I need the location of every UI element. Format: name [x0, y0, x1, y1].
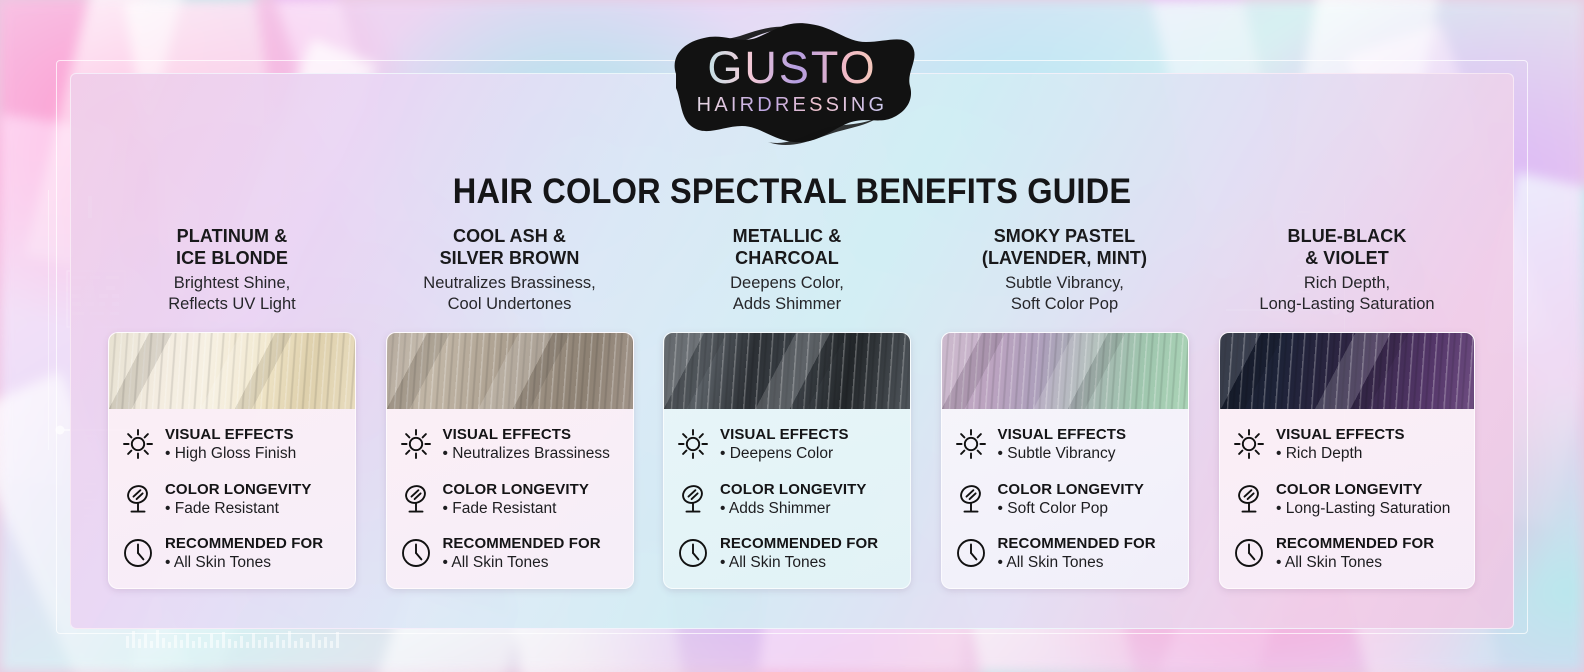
feature-visual-effects: VISUAL EFFECTS • High Gloss Finish [121, 425, 343, 463]
content-panel: GUSTO HAIRDRESSING HAIR COLOR SPECTRAL B… [70, 73, 1514, 629]
feature-visual-effects: VISUAL EFFECTS • Deepens Color [676, 425, 898, 463]
column-title-line1: METALLIC & [733, 226, 842, 248]
hand-mirror-icon [676, 482, 710, 516]
feature-value: • Deepens Color [720, 445, 833, 462]
column-subtitle-line1: Subtle Vibrancy, [1005, 273, 1124, 294]
column-title-line2: CHARCOAL [733, 248, 842, 270]
feature-label: VISUAL EFFECTS [443, 426, 572, 443]
feature-value: • Rich Depth [1276, 445, 1362, 462]
feature-value: • Neutralizes Brassiness [443, 445, 610, 462]
benefit-column-metallic-charcoal: METALLIC & CHARCOAL Deepens Color, Adds … [650, 226, 924, 589]
benefit-card[interactable]: VISUAL EFFECTS • High Gloss Finish [108, 332, 356, 589]
feature-text: VISUAL EFFECTS • Subtle Vibrancy [998, 425, 1176, 463]
hair-chevron-highlight [1220, 333, 1474, 409]
feature-label: VISUAL EFFECTS [165, 426, 294, 443]
feature-value: • All Skin Tones [1276, 554, 1382, 571]
column-title: PLATINUM & ICE BLONDE [176, 226, 288, 270]
feature-label: COLOR LONGEVITY [998, 481, 1145, 498]
clock-icon [399, 536, 433, 570]
feature-value: • Subtle Vibrancy [998, 445, 1116, 462]
feature-label: RECOMMENDED FOR [1276, 535, 1434, 552]
feature-color-longevity: COLOR LONGEVITY • Adds Shimmer [676, 480, 898, 518]
feature-label: VISUAL EFFECTS [720, 426, 849, 443]
feature-recommended-for: RECOMMENDED FOR • All Skin Tones [121, 534, 343, 572]
benefit-column-blue-black-violet: BLUE-BLACK & VIOLET Rich Depth, Long-Las… [1205, 226, 1489, 589]
sun-icon [121, 427, 155, 461]
column-title: METALLIC & CHARCOAL [733, 226, 842, 270]
card-body: VISUAL EFFECTS • High Gloss Finish [109, 409, 355, 588]
feature-value: • Fade Resistant [443, 500, 557, 517]
feature-value: • All Skin Tones [443, 554, 549, 571]
card-body: VISUAL EFFECTS • Rich Depth [1220, 409, 1474, 588]
page-title: HAIR COLOR SPECTRAL BENEFITS GUIDE [121, 172, 1462, 212]
card-body: VISUAL EFFECTS • Neutralizes Brassiness [387, 409, 633, 588]
column-subtitle-line2: Long-Lasting Saturation [1259, 294, 1434, 315]
feature-value: • All Skin Tones [720, 554, 826, 571]
feature-recommended-for: RECOMMENDED FOR • All Skin Tones [676, 534, 898, 572]
feature-value: • High Gloss Finish [165, 445, 296, 462]
feature-text: COLOR LONGEVITY • Fade Resistant [165, 480, 343, 518]
clock-icon [676, 536, 710, 570]
feature-label: COLOR LONGEVITY [443, 481, 590, 498]
clock-icon [121, 536, 155, 570]
column-title-line1: SMOKY PASTEL [982, 226, 1147, 248]
hair-swatch-image [387, 333, 633, 409]
feature-color-longevity: COLOR LONGEVITY • Fade Resistant [121, 480, 343, 518]
feature-value: • Soft Color Pop [998, 500, 1109, 517]
benefit-column-platinum-ice-blonde: PLATINUM & ICE BLONDE Brightest Shine, R… [95, 226, 369, 589]
clock-icon [1232, 536, 1266, 570]
column-title-line1: BLUE-BLACK [1288, 226, 1407, 248]
feature-text: VISUAL EFFECTS • Deepens Color [720, 425, 898, 463]
column-subtitle: Deepens Color, Adds Shimmer [730, 273, 844, 314]
column-subtitle-line1: Neutralizes Brassiness, [423, 273, 595, 294]
feature-label: RECOMMENDED FOR [165, 535, 323, 552]
feature-color-longevity: COLOR LONGEVITY • Soft Color Pop [954, 480, 1176, 518]
hair-swatch-image [109, 333, 355, 409]
column-subtitle: Neutralizes Brassiness, Cool Undertones [423, 273, 595, 314]
feature-text: RECOMMENDED FOR • All Skin Tones [998, 534, 1176, 572]
feature-text: COLOR LONGEVITY • Fade Resistant [443, 480, 621, 518]
feature-text: VISUAL EFFECTS • High Gloss Finish [165, 425, 343, 463]
benefits-columns: PLATINUM & ICE BLONDE Brightest Shine, R… [95, 226, 1489, 589]
column-title-line2: ICE BLONDE [176, 248, 288, 270]
feature-value: • Fade Resistant [165, 500, 279, 517]
feature-recommended-for: RECOMMENDED FOR • All Skin Tones [399, 534, 621, 572]
benefit-card[interactable]: VISUAL EFFECTS • Deepens Color [663, 332, 911, 589]
hair-swatch-image [664, 333, 910, 409]
feature-label: VISUAL EFFECTS [998, 426, 1127, 443]
benefit-card[interactable]: VISUAL EFFECTS • Subtle Vibrancy [941, 332, 1189, 589]
card-body: VISUAL EFFECTS • Deepens Color [664, 409, 910, 588]
hair-chevron-highlight [942, 333, 1188, 409]
feature-value: • Adds Shimmer [720, 500, 831, 517]
column-subtitle: Rich Depth, Long-Lasting Saturation [1259, 273, 1434, 314]
column-subtitle-line2: Cool Undertones [423, 294, 595, 315]
column-subtitle-line2: Adds Shimmer [730, 294, 844, 315]
feature-recommended-for: RECOMMENDED FOR • All Skin Tones [1232, 534, 1462, 572]
column-title-line2: & VIOLET [1288, 248, 1407, 270]
feature-visual-effects: VISUAL EFFECTS • Subtle Vibrancy [954, 425, 1176, 463]
feature-value: • All Skin Tones [165, 554, 271, 571]
column-subtitle: Subtle Vibrancy, Soft Color Pop [1005, 273, 1124, 314]
benefit-column-cool-ash-silver-brown: COOL ASH & SILVER BROWN Neutralizes Bras… [373, 226, 647, 589]
hand-mirror-icon [399, 482, 433, 516]
column-title: SMOKY PASTEL (LAVENDER, MINT) [982, 226, 1147, 270]
feature-visual-effects: VISUAL EFFECTS • Rich Depth [1232, 425, 1462, 463]
hair-chevron-highlight [387, 333, 633, 409]
column-subtitle-line2: Reflects UV Light [168, 294, 295, 315]
feature-color-longevity: COLOR LONGEVITY • Fade Resistant [399, 480, 621, 518]
brand-logo: GUSTO HAIRDRESSING [660, 16, 924, 148]
feature-text: COLOR LONGEVITY • Long-Lasting Saturatio… [1276, 480, 1462, 518]
column-subtitle-line1: Rich Depth, [1259, 273, 1434, 294]
benefit-card[interactable]: VISUAL EFFECTS • Rich Depth [1219, 332, 1475, 589]
feature-label: COLOR LONGEVITY [720, 481, 867, 498]
hand-mirror-icon [121, 482, 155, 516]
column-subtitle-line1: Deepens Color, [730, 273, 844, 294]
feature-label: RECOMMENDED FOR [720, 535, 878, 552]
feature-text: VISUAL EFFECTS • Neutralizes Brassiness [443, 425, 621, 463]
feature-label: RECOMMENDED FOR [443, 535, 601, 552]
column-title-line2: SILVER BROWN [440, 248, 580, 270]
hair-chevron-highlight [109, 333, 355, 409]
benefit-card[interactable]: VISUAL EFFECTS • Neutralizes Brassiness [386, 332, 634, 589]
feature-label: COLOR LONGEVITY [165, 481, 312, 498]
sun-icon [399, 427, 433, 461]
column-title: COOL ASH & SILVER BROWN [440, 226, 580, 270]
clock-icon [954, 536, 988, 570]
column-subtitle: Brightest Shine, Reflects UV Light [168, 273, 295, 314]
column-subtitle-line2: Soft Color Pop [1005, 294, 1124, 315]
feature-value: • Long-Lasting Saturation [1276, 500, 1450, 517]
feature-label: COLOR LONGEVITY [1276, 481, 1423, 498]
hand-mirror-icon [1232, 482, 1266, 516]
feature-label: RECOMMENDED FOR [998, 535, 1156, 552]
feature-label: VISUAL EFFECTS [1276, 426, 1405, 443]
feature-visual-effects: VISUAL EFFECTS • Neutralizes Brassiness [399, 425, 621, 463]
column-title: BLUE-BLACK & VIOLET [1288, 226, 1407, 270]
benefit-column-smoky-pastel: SMOKY PASTEL (LAVENDER, MINT) Subtle Vib… [928, 226, 1202, 589]
column-title-line2: (LAVENDER, MINT) [982, 248, 1147, 270]
feature-text: RECOMMENDED FOR • All Skin Tones [720, 534, 898, 572]
feature-recommended-for: RECOMMENDED FOR • All Skin Tones [954, 534, 1176, 572]
feature-text: COLOR LONGEVITY • Soft Color Pop [998, 480, 1176, 518]
hair-swatch-image [942, 333, 1188, 409]
sun-icon [1232, 427, 1266, 461]
hand-mirror-icon [954, 482, 988, 516]
infographic-canvas: GUSTO HAIRDRESSING HAIR COLOR SPECTRAL B… [0, 0, 1584, 672]
feature-text: VISUAL EFFECTS • Rich Depth [1276, 425, 1462, 463]
hair-chevron-highlight [664, 333, 910, 409]
hair-swatch-image [1220, 333, 1474, 409]
brand-name: GUSTO [660, 42, 924, 94]
feature-text: RECOMMENDED FOR • All Skin Tones [165, 534, 343, 572]
feature-value: • All Skin Tones [998, 554, 1104, 571]
feature-text: COLOR LONGEVITY • Adds Shimmer [720, 480, 898, 518]
feature-text: RECOMMENDED FOR • All Skin Tones [1276, 534, 1462, 572]
brand-tagline: HAIRDRESSING [660, 94, 924, 117]
column-title-line1: PLATINUM & [176, 226, 288, 248]
feature-color-longevity: COLOR LONGEVITY • Long-Lasting Saturatio… [1232, 480, 1462, 518]
feature-text: RECOMMENDED FOR • All Skin Tones [443, 534, 621, 572]
card-body: VISUAL EFFECTS • Subtle Vibrancy [942, 409, 1188, 588]
sun-icon [676, 427, 710, 461]
column-subtitle-line1: Brightest Shine, [168, 273, 295, 294]
sun-icon [954, 427, 988, 461]
column-title-line1: COOL ASH & [440, 226, 580, 248]
